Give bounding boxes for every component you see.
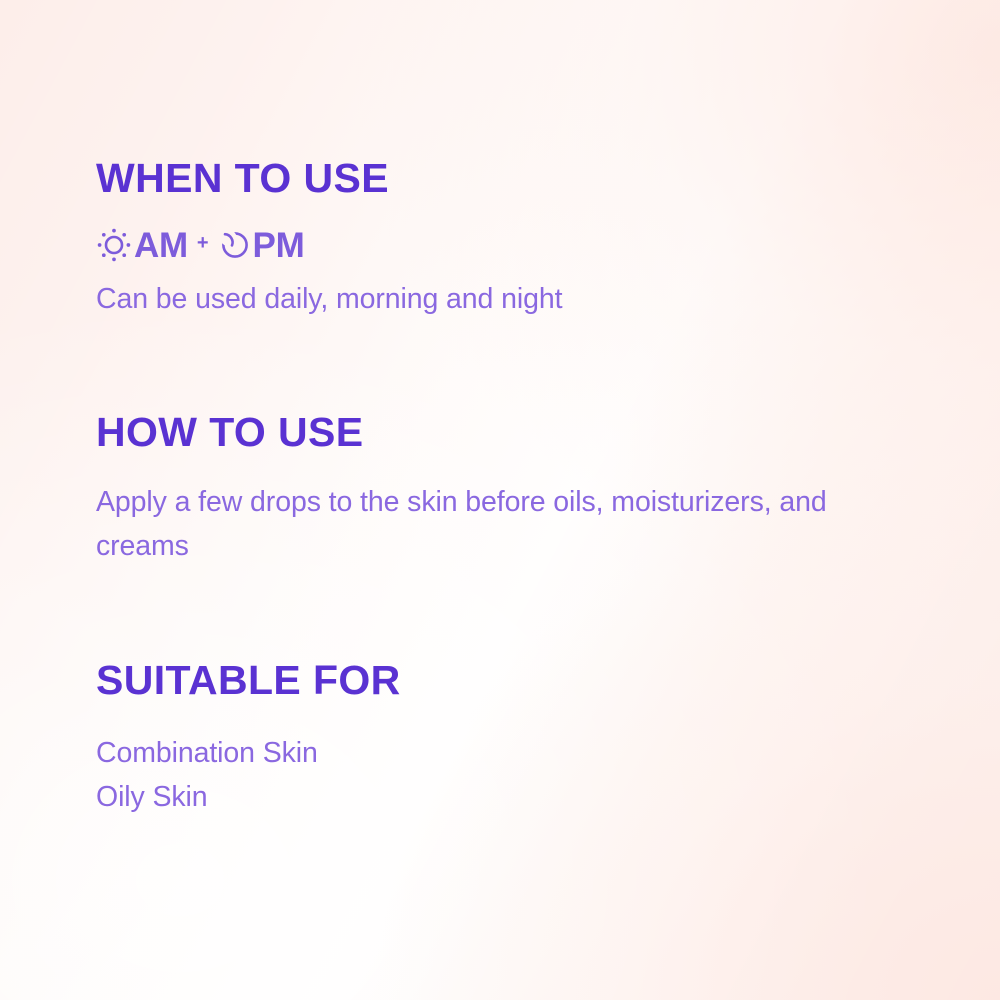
- when-to-use-heading: WHEN TO USE: [96, 158, 940, 199]
- section-suitable-for: SUITABLE FOR Combination Skin Oily Skin: [96, 660, 940, 819]
- plus-separator: +: [197, 232, 209, 255]
- suitable-for-list: Combination Skin Oily Skin: [96, 731, 940, 819]
- when-to-use-note: Can be used daily, morning and night: [96, 277, 940, 321]
- am-label: AM: [134, 228, 188, 263]
- moon-icon: [218, 228, 252, 262]
- section-when-to-use: WHEN TO USE AM +: [96, 158, 940, 321]
- section-how-to-use: HOW TO USE Apply a few drops to the skin…: [96, 412, 940, 568]
- list-item: Combination Skin: [96, 731, 940, 775]
- suitable-for-heading: SUITABLE FOR: [96, 660, 940, 701]
- how-to-use-body: Apply a few drops to the skin before oil…: [96, 480, 856, 568]
- sun-icon: [96, 227, 132, 263]
- product-info-card: WHEN TO USE AM +: [0, 0, 1000, 1000]
- list-item: Oily Skin: [96, 775, 940, 819]
- pm-label: PM: [253, 228, 305, 263]
- am-pm-row: AM + PM: [96, 225, 940, 265]
- how-to-use-heading: HOW TO USE: [96, 412, 940, 453]
